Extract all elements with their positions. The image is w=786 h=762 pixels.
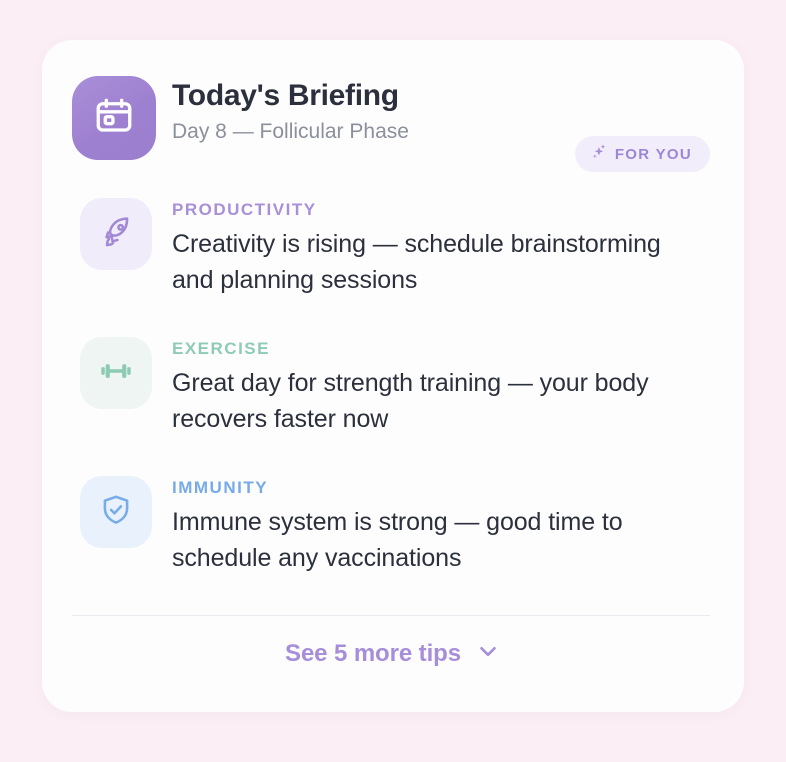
briefing-card: Today's Briefing Day 8 — Follicular Phas…: [42, 40, 744, 712]
footer-divider: [72, 615, 710, 616]
sparkles-icon: [589, 142, 608, 166]
for-you-badge-label: FOR YOU: [615, 147, 692, 162]
see-more-tips-label: See 5 more tips: [285, 640, 461, 668]
tip-icon-tile: [80, 476, 152, 548]
tip-category-label: EXERCISE: [172, 338, 724, 360]
tip-icon-tile: [80, 198, 152, 270]
cycle-day-subtitle: Day 8 — Follicular Phase: [172, 117, 409, 147]
card-header: Today's Briefing Day 8 — Follicular Phas…: [72, 76, 710, 160]
tip-content: EXERCISE Great day for strength training…: [172, 337, 724, 437]
calendar-icon: [93, 95, 135, 142]
for-you-badge[interactable]: FOR YOU: [575, 136, 710, 172]
tip-category-label: PRODUCTIVITY: [172, 199, 724, 221]
see-more-tips-button[interactable]: See 5 more tips: [42, 638, 744, 669]
page-title: Today's Briefing: [172, 78, 409, 114]
tip-item-exercise[interactable]: EXERCISE Great day for strength training…: [80, 337, 724, 437]
tip-content: IMMUNITY Immune system is strong — good …: [172, 476, 724, 576]
tip-category-label: IMMUNITY: [172, 477, 724, 499]
tip-item-immunity[interactable]: IMMUNITY Immune system is strong — good …: [80, 476, 724, 576]
rocket-icon: [98, 214, 134, 255]
header-text-block: Today's Briefing Day 8 — Follicular Phas…: [172, 78, 409, 147]
shield-check-icon: [98, 492, 134, 533]
dumbbell-icon: [98, 353, 134, 394]
tip-icon-tile: [80, 337, 152, 409]
briefing-app-icon: [72, 76, 156, 160]
tip-item-productivity[interactable]: PRODUCTIVITY Creativity is rising — sche…: [80, 198, 724, 298]
tip-content: PRODUCTIVITY Creativity is rising — sche…: [172, 198, 724, 298]
tips-list: PRODUCTIVITY Creativity is rising — sche…: [80, 198, 724, 576]
tip-description: Creativity is rising — schedule brainsto…: [172, 226, 692, 298]
tip-description: Immune system is strong — good time to s…: [172, 504, 692, 576]
chevron-down-icon: [475, 638, 501, 669]
tip-description: Great day for strength training — your b…: [172, 365, 692, 437]
